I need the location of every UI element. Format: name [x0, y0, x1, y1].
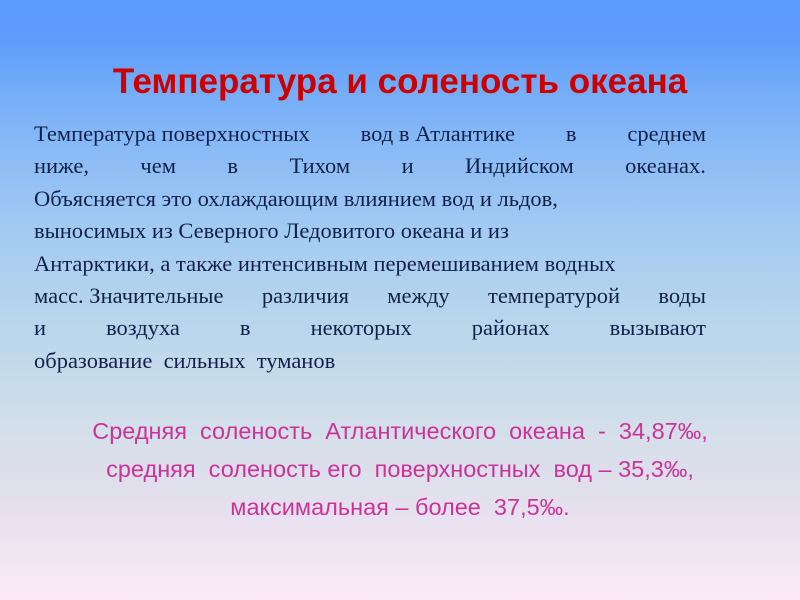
- body-line: и воздуха в некоторых районах вызывают: [34, 312, 706, 344]
- body-line-segment: воздуха: [106, 312, 180, 344]
- body-paragraph: Температура поверхностных вод в Атлантик…: [34, 118, 706, 377]
- body-line-segment: Температура поверхностных: [34, 118, 310, 150]
- body-line: Антарктики, а также интенсивным перемеши…: [34, 248, 706, 280]
- body-line-segment: масс. Значительные: [34, 280, 224, 312]
- page-title: Температура и соленость океана: [0, 61, 800, 103]
- body-line-segment: различия: [262, 280, 349, 312]
- body-line: масс. Значительные различия между темпер…: [34, 280, 706, 312]
- body-line: образование сильных туманов: [34, 345, 706, 377]
- body-line-segment: Индийском: [465, 150, 574, 182]
- body-line-segment: в: [566, 118, 577, 150]
- body-line-segment: океанах.: [625, 150, 706, 182]
- salinity-line: средняя соленость его поверхностных вод …: [0, 450, 800, 488]
- salinity-line: Средняя соленость Атлантического океана …: [0, 412, 800, 450]
- body-line: Температура поверхностных вод в Атлантик…: [34, 118, 706, 150]
- body-line-segment: некоторых: [311, 312, 412, 344]
- body-line-segment: вызывают: [610, 312, 706, 344]
- body-line-segment: температурой: [488, 280, 620, 312]
- body-line-segment: чем: [140, 150, 176, 182]
- body-line: ниже, чем в Тихом и Индийском океанах.: [34, 150, 706, 182]
- body-line-segment: и: [402, 150, 414, 182]
- body-line-segment: в: [227, 150, 238, 182]
- body-line: Объясняется это охлаждающим влиянием вод…: [34, 183, 706, 215]
- body-line-segment: вод в Атлантике: [361, 118, 515, 150]
- body-line-segment: среднем: [627, 118, 706, 150]
- body-line-segment: и: [34, 312, 46, 344]
- body-line-segment: Тихом: [289, 150, 350, 182]
- body-line-segment: воды: [658, 280, 706, 312]
- presentation-slide: Температура и соленость океана Температу…: [0, 0, 800, 600]
- body-line-segment: районах: [472, 312, 550, 344]
- body-line-segment: между: [387, 280, 449, 312]
- salinity-line: максимальная – более 37,5‰.: [0, 488, 800, 526]
- body-line: выносимых из Северного Ледовитого океана…: [34, 215, 706, 247]
- salinity-highlight-block: Средняя соленость Атлантического океана …: [0, 412, 800, 526]
- body-line-segment: в: [240, 312, 251, 344]
- body-line-segment: ниже,: [34, 150, 89, 182]
